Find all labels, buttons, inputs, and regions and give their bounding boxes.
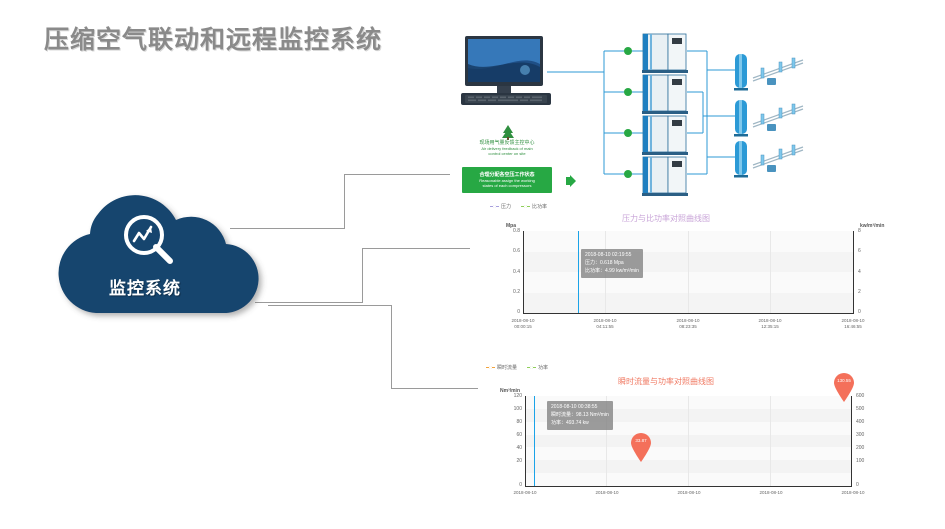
chart2-xtick-0: 2018-08-10 bbox=[497, 490, 553, 496]
chart1-y2tick-4: 0 bbox=[858, 309, 861, 315]
chart2-xtick-1: 2018-08-10 bbox=[579, 490, 635, 496]
chart2-y-axis bbox=[525, 396, 526, 487]
chart2-xtick-3-date: 2018-08-10 bbox=[743, 490, 799, 496]
legend-item-power[interactable]: 功率 bbox=[527, 364, 548, 371]
chart1-y2tick-1: 6 bbox=[858, 248, 861, 254]
chart2-y2-axis bbox=[851, 396, 852, 487]
search-chart-icon bbox=[120, 212, 178, 270]
legend-item-flow[interactable]: 瞬时流量 bbox=[486, 364, 517, 371]
chart2-ytick-3: 60 bbox=[502, 432, 522, 438]
chart2-legend[interactable]: 瞬时流量 功率 bbox=[486, 364, 548, 371]
chart2-marker-low-label: 33.87 bbox=[630, 438, 652, 443]
chart2-y2tick-4: 200 bbox=[856, 445, 864, 451]
chart2-marker-high-label: 130.55 bbox=[833, 378, 855, 383]
chart2-y2tick-3: 300 bbox=[856, 432, 864, 438]
chart2-y2tick-6: 0 bbox=[856, 482, 859, 488]
chart1-xtick-0: 2018-08-10 00:00:15 bbox=[495, 318, 551, 330]
chart1-ytick-1: 0.6 bbox=[500, 248, 520, 254]
chart1-y2tick-3: 2 bbox=[858, 289, 861, 295]
chart1-y2tick-2: 4 bbox=[858, 269, 861, 275]
legend-item-specific-power[interactable]: 比功率 bbox=[521, 203, 547, 210]
chart2-tooltip-line1: 瞬时流量：98.13 Nm³/min bbox=[551, 412, 609, 420]
chart2-ytick-4: 40 bbox=[502, 445, 522, 451]
chart1-plot[interactable]: 2018-08-10 02:19:55 压力：0.618 Mpa 比功率：4.9… bbox=[523, 231, 853, 313]
chart-pressure-vs-specific-power[interactable]: 压力 比功率 压力与比功率对照曲线图 Mpa kw/m³/min 201 bbox=[478, 201, 938, 329]
chart1-cursor[interactable] bbox=[578, 231, 579, 313]
chart1-xtick-2: 2018-08-10 08:23:35 bbox=[660, 318, 716, 330]
chart2-y2tick-0: 600 bbox=[856, 393, 864, 399]
chart2-ytick-2: 80 bbox=[502, 419, 522, 425]
legend-dash-flow bbox=[486, 365, 495, 370]
chart2-xtick-4: 2018-08-10 bbox=[825, 490, 881, 496]
chart1-y2tick-0: 8 bbox=[858, 228, 861, 234]
chart2-tooltip-line2: 功率：493.74 kw bbox=[551, 420, 609, 428]
chart2-ytick-5: 20 bbox=[502, 458, 522, 464]
chart1-legend[interactable]: 压力 比功率 bbox=[490, 203, 547, 210]
chart1-y2-axis bbox=[853, 231, 854, 314]
chart2-xtick-2-date: 2018-08-10 bbox=[661, 490, 717, 496]
chart2-y2tick-1: 500 bbox=[856, 406, 864, 412]
chart2-y2tick-5: 100 bbox=[856, 458, 864, 464]
legend-label-power: 功率 bbox=[538, 364, 548, 371]
chart1-ytick-3: 0.2 bbox=[500, 289, 520, 295]
system-topology-diagram: 现场用气量反馈主控中心 Air delivery feedback of mai… bbox=[447, 24, 937, 200]
legend-dash-power bbox=[527, 365, 536, 370]
chart2-marker-low[interactable]: 33.87 bbox=[630, 432, 652, 462]
legend-dash-specific-power bbox=[521, 204, 530, 209]
chart1-xtick-3-time: 12:35:15 bbox=[742, 324, 798, 330]
chart1-x-axis bbox=[523, 313, 854, 314]
chart2-xtick-3: 2018-08-10 bbox=[743, 490, 799, 496]
chart1-ytick-0: 0.8 bbox=[500, 228, 520, 234]
chart2-y2tick-2: 400 bbox=[856, 419, 864, 425]
chart2-plot[interactable]: 2018-08-10 00:38:55 瞬时流量：98.13 Nm³/min 功… bbox=[525, 396, 852, 486]
chart2-title: 瞬时流量与功率对照曲线图 bbox=[618, 376, 714, 387]
monitoring-cloud[interactable]: 监控系统 bbox=[34, 193, 290, 328]
legend-label-specific-power: 比功率 bbox=[532, 203, 547, 210]
chart1-xtick-3: 2018-08-10 12:35:15 bbox=[742, 318, 798, 330]
legend-dash-pressure bbox=[490, 204, 499, 209]
chart2-xtick-2: 2018-08-10 bbox=[661, 490, 717, 496]
chart1-ytick-2: 0.4 bbox=[500, 269, 520, 275]
chart1-y2label: kw/m³/min bbox=[860, 223, 884, 229]
chart1-xtick-2-time: 08:23:35 bbox=[660, 324, 716, 330]
chart1-tooltip-line2: 比功率：4.99 kw/m³/min bbox=[585, 268, 639, 276]
chart-flow-vs-power[interactable]: 瞬时流量 功率 瞬时流量与功率对照曲线图 Nm³/min bbox=[478, 362, 938, 529]
chart1-xtick-1-time: 04:11:55 bbox=[577, 324, 633, 330]
chart2-xtick-0-date: 2018-08-10 bbox=[497, 490, 553, 496]
chart1-ytick-4: 0 bbox=[500, 309, 520, 315]
chart2-xtick-4-date: 2018-08-10 bbox=[825, 490, 881, 496]
chart1-xtick-4-time: 16:46:55 bbox=[825, 324, 881, 330]
chart1-xtick-0-time: 00:00:15 bbox=[495, 324, 551, 330]
chart2-tooltip-timestamp: 2018-08-10 00:38:55 bbox=[551, 404, 609, 412]
chart2-cursor[interactable] bbox=[534, 396, 535, 486]
legend-item-pressure[interactable]: 压力 bbox=[490, 203, 511, 210]
cloud-label: 监控系统 bbox=[34, 274, 256, 299]
chart1-tooltip: 2018-08-10 02:19:55 压力：0.618 Mpa 比功率：4.9… bbox=[581, 249, 643, 278]
chart1-tooltip-timestamp: 2018-08-10 02:19:55 bbox=[585, 252, 639, 260]
slide-root: 压缩空气联动和远程监控系统 bbox=[0, 0, 945, 529]
page-title: 压缩空气联动和远程监控系统 bbox=[44, 20, 382, 56]
legend-label-pressure: 压力 bbox=[501, 203, 511, 210]
chart1-xtick-1: 2018-08-10 04:11:55 bbox=[577, 318, 633, 330]
topology-wiring bbox=[447, 24, 937, 200]
chart2-ytick-1: 100 bbox=[502, 406, 522, 412]
chart1-xtick-4: 2018-08-10 16:46:55 bbox=[825, 318, 881, 330]
chart1-tooltip-line1: 压力：0.618 Mpa bbox=[585, 260, 639, 268]
legend-label-flow: 瞬时流量 bbox=[497, 364, 517, 371]
chart2-tooltip: 2018-08-10 00:38:55 瞬时流量：98.13 Nm³/min 功… bbox=[547, 401, 613, 430]
chart2-ytick-0: 120 bbox=[502, 393, 522, 399]
chart2-ytick-6: 0 bbox=[502, 482, 522, 488]
chart1-title: 压力与比功率对照曲线图 bbox=[622, 213, 710, 224]
chart2-x-axis bbox=[525, 486, 852, 487]
chart1-y-axis bbox=[523, 231, 524, 314]
chart2-xtick-1-date: 2018-08-10 bbox=[579, 490, 635, 496]
connector-bottom bbox=[268, 305, 478, 390]
